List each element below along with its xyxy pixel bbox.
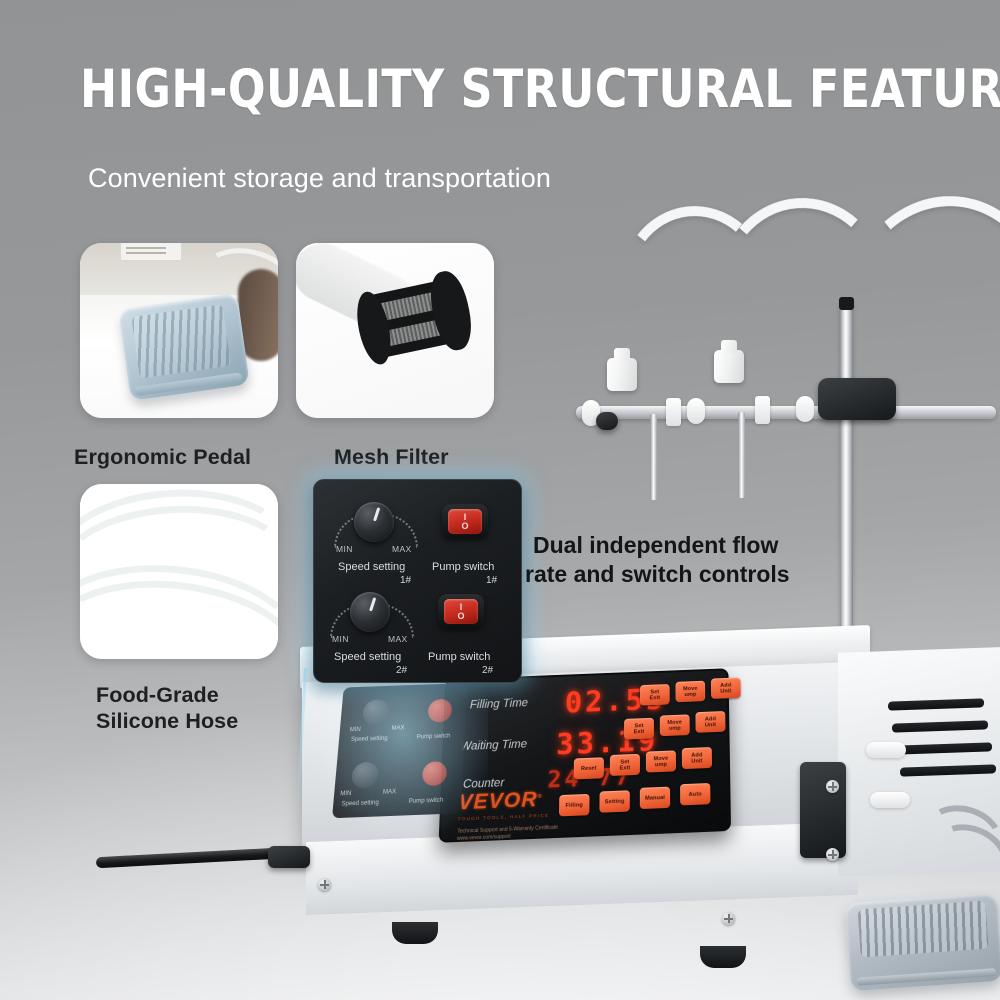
pedal-coiled-cable <box>912 796 1000 885</box>
stand-vertical-post <box>840 300 853 890</box>
keypad-button-add-unit[interactable]: AddUnit <box>682 747 712 769</box>
callout-text: Dual independent flow rate and switch co… <box>533 531 843 589</box>
feature-card-mesh-filter[interactable] <box>296 243 494 418</box>
pump-switch-2-off-label: O <box>457 612 464 620</box>
callout-text-line-1: Dual independent flow <box>533 531 843 560</box>
rubber-foot <box>700 946 746 968</box>
keypad-button-add-unit[interactable]: AddUnit <box>695 711 725 733</box>
speed-knob-1-min-label: MIN <box>336 544 353 554</box>
foot-pedal-ridges <box>858 901 989 958</box>
chassis-screw <box>826 848 839 861</box>
speed-setting-2-label: Speed setting <box>334 651 401 663</box>
feature-card-ergonomic-pedal[interactable] <box>80 243 278 418</box>
post-cap <box>839 297 854 310</box>
feature-card-label-mesh-filter: Mesh Filter <box>334 444 449 470</box>
page-subtitle: Convenient storage and transportation <box>88 162 848 194</box>
bar-collar-left <box>582 400 600 426</box>
pump-switch-2-label: Pump switch <box>428 651 490 663</box>
pump-switch-1[interactable]: I O <box>442 504 488 538</box>
keypad-button-manual[interactable]: Manual <box>640 787 670 809</box>
pump-switch-1-label: Pump switch <box>432 561 494 573</box>
keypad-button-move[interactable]: Moveump <box>646 750 676 772</box>
speed-knob-1[interactable] <box>354 502 394 542</box>
speed-setting-2-number: 2# <box>396 665 407 676</box>
nozzle-cap-2 <box>714 350 744 383</box>
keypad-button-reset[interactable]: Reset <box>574 757 604 779</box>
pump-switch-1-number: 1# <box>486 575 497 586</box>
power-cable <box>96 847 296 868</box>
keypad-button-move[interactable]: Moveump <box>675 681 705 703</box>
rubber-foot <box>392 922 438 944</box>
keypad-button-add-unit[interactable]: AddUnit <box>711 677 741 698</box>
post-clamp <box>818 378 896 420</box>
callout-beam <box>296 668 307 818</box>
keypad-button-filling[interactable]: Filling <box>559 794 590 817</box>
speed-knob-2-min-label: MIN <box>332 634 349 644</box>
chassis-screw <box>826 780 839 793</box>
chassis-screw <box>318 878 331 891</box>
bar-end-cap <box>596 412 618 430</box>
feature-card-label-silicone-hose: Food-Grade Silicone Hose <box>96 682 296 734</box>
callout-glow <box>318 666 488 836</box>
keypad-button-setting[interactable]: Setting <box>599 790 629 812</box>
callout-text-line-2: rate and switch controls <box>525 560 843 589</box>
vent-slot <box>900 764 996 776</box>
silicone-hose-left <box>612 199 781 380</box>
side-bracket <box>800 762 846 858</box>
vent-slot <box>892 720 988 732</box>
speed-knob-2-max-label: MAX <box>388 634 408 644</box>
machine-right-side-panel <box>838 647 1000 877</box>
vent-slot <box>896 742 992 754</box>
brand-registered-mark: ® <box>538 794 543 800</box>
silicone-hose-label-line-1: Food-Grade <box>96 682 296 708</box>
keypad-button-auto[interactable]: Auto <box>680 783 710 805</box>
pedal-coiled-cable <box>921 812 1000 901</box>
filling-needle-1 <box>650 414 657 500</box>
stand-horizontal-bar <box>576 406 996 419</box>
silicone-hose-label-line-2: Silicone Hose <box>96 708 296 734</box>
pedal-photo-label-sticker <box>120 243 182 261</box>
nozzle-clip-1 <box>666 398 681 426</box>
bar-collar-mid <box>687 398 705 424</box>
foot-pedal-unit[interactable] <box>845 893 1000 991</box>
keypad-button-set-exit[interactable]: SetExit <box>624 718 654 740</box>
cable-gland-lower <box>870 792 910 808</box>
speed-knob-1-max-label: MAX <box>392 544 412 554</box>
pump-switch-1-off-label: O <box>461 522 468 530</box>
power-cable-strain-relief <box>268 846 310 868</box>
nozzle-clip-2 <box>755 396 770 424</box>
keypad-button-set-exit[interactable]: SetExit <box>640 684 670 706</box>
vent-slot <box>888 698 984 710</box>
silicone-hose-right <box>712 192 894 383</box>
product-feature-image: HIGH-QUALITY STRUCTURAL FEATURES Conveni… <box>0 0 1000 1000</box>
speed-knob-2[interactable] <box>350 592 390 632</box>
nozzle-cap-1 <box>607 358 637 391</box>
keypad-button-move[interactable]: Moveump <box>660 714 690 736</box>
keypad-button-set-exit[interactable]: SetExit <box>610 754 640 776</box>
pump-switch-1-on-label: I <box>464 513 467 521</box>
feature-card-label-ergonomic-pedal: Ergonomic Pedal <box>74 444 251 470</box>
silicone-hose-far-right <box>830 186 1000 447</box>
bar-collar-right <box>796 396 814 422</box>
cable-gland-upper <box>866 742 906 758</box>
speed-setting-1-number: 1# <box>400 575 411 586</box>
filling-needle-2 <box>738 412 745 498</box>
foot-pedal <box>118 293 250 401</box>
chassis-screw <box>722 912 735 925</box>
control-panel-callout[interactable]: MIN MAX Speed setting 1# I O Pump switch… <box>313 479 522 683</box>
foot-pedal-lip <box>856 968 996 986</box>
pump-switch-2-on-label: I <box>460 603 463 611</box>
pump-switch-2-number: 2# <box>482 665 493 676</box>
pump-switch-2[interactable]: I O <box>438 594 484 628</box>
feature-card-silicone-hose[interactable] <box>80 484 278 659</box>
speed-setting-1-label: Speed setting <box>338 561 405 573</box>
page-title: HIGH-QUALITY STRUCTURAL FEATURES <box>80 62 898 118</box>
